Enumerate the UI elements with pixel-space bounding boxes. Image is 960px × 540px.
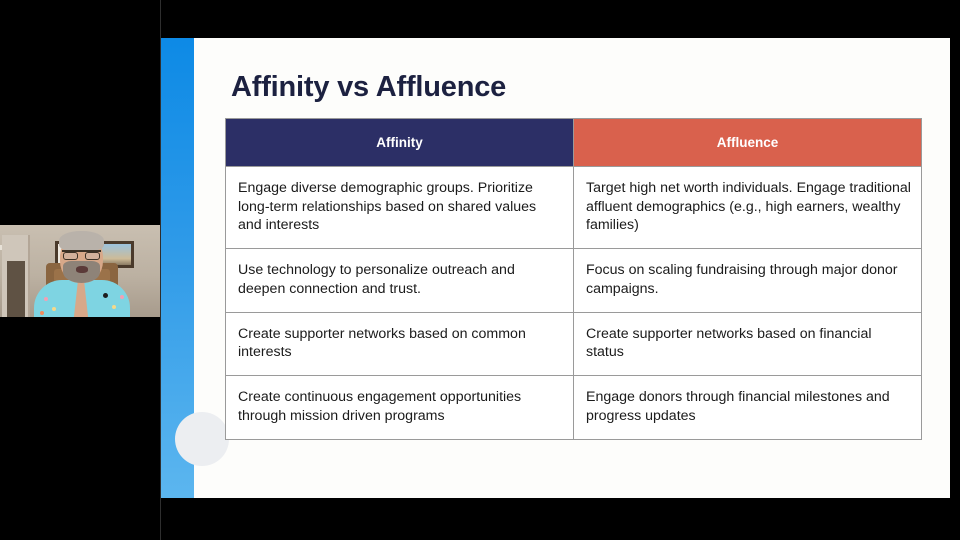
table-header: Affinity Affluence <box>226 119 922 167</box>
column-header-affluence: Affluence <box>574 119 922 167</box>
shirt-pattern-dot <box>44 297 48 301</box>
video-doorway <box>2 235 30 317</box>
table-row: Create supporter networks based on commo… <box>226 312 922 375</box>
shirt-pattern-dot <box>120 295 124 299</box>
column-header-affinity: Affinity <box>226 119 574 167</box>
slide-content: Affinity vs Affluence Affinity Affluence… <box>161 38 950 498</box>
webcam-video-feed[interactable] <box>0 225 161 317</box>
shared-slide[interactable]: Affinity vs Affluence Affinity Affluence… <box>161 38 950 498</box>
shirt-pattern-dot <box>40 311 44 315</box>
table-row: Create continuous engagement opportuniti… <box>226 376 922 439</box>
participant-mouth <box>76 266 88 273</box>
cell-affluence: Engage donors through financial mileston… <box>574 376 922 439</box>
table-header-row: Affinity Affluence <box>226 119 922 167</box>
participant-glasses <box>62 250 101 261</box>
video-doorway-opening <box>7 261 25 317</box>
participant-hair <box>59 231 104 251</box>
cell-affluence: Target high net worth individuals. Engag… <box>574 167 922 249</box>
participant-video-tile[interactable] <box>0 0 161 540</box>
shirt-pattern-dot <box>52 307 56 311</box>
cell-affluence: Focus on scaling fundraising through maj… <box>574 249 922 312</box>
table-row: Use technology to personalize outreach a… <box>226 249 922 312</box>
cell-affinity: Create supporter networks based on commo… <box>226 312 574 375</box>
video-picture-art <box>99 244 131 265</box>
table-row: Engage diverse demographic groups. Prior… <box>226 167 922 249</box>
cell-affinity: Engage diverse demographic groups. Prior… <box>226 167 574 249</box>
table-body: Engage diverse demographic groups. Prior… <box>226 167 922 440</box>
cell-affluence: Create supporter networks based on finan… <box>574 312 922 375</box>
shirt-pattern-dot <box>112 305 116 309</box>
lapel-microphone-icon <box>103 293 108 298</box>
meeting-stage: Affinity vs Affluence Affinity Affluence… <box>0 0 960 540</box>
page-title: Affinity vs Affluence <box>231 71 506 104</box>
cell-affinity: Use technology to personalize outreach a… <box>226 249 574 312</box>
cell-affinity: Create continuous engagement opportuniti… <box>226 376 574 439</box>
comparison-table: Affinity Affluence Engage diverse demogr… <box>225 118 922 440</box>
